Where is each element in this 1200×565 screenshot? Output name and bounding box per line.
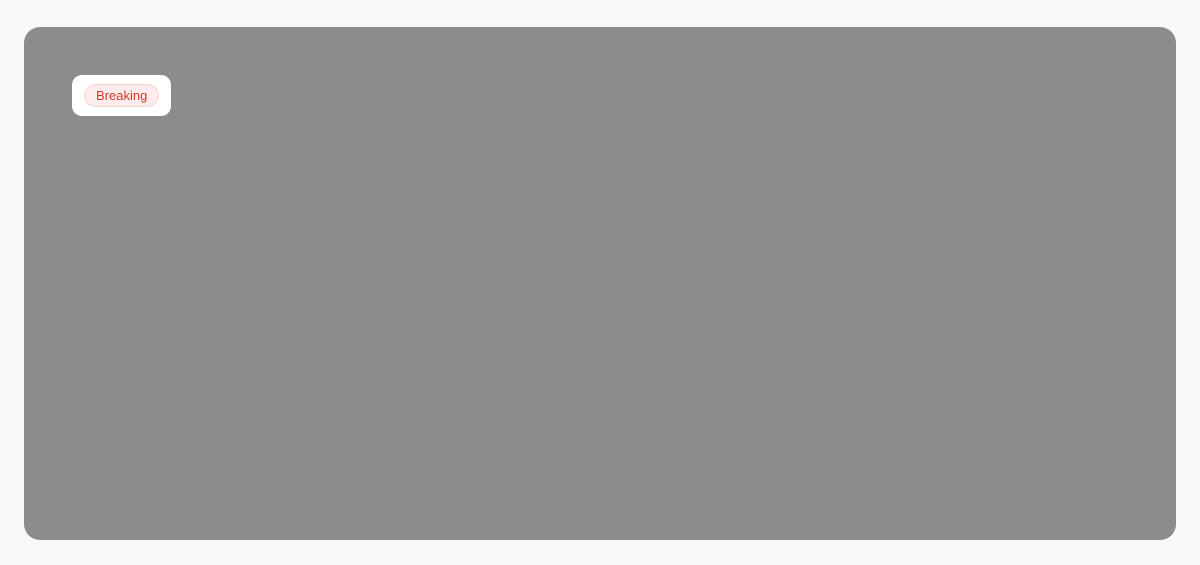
changes-count-badge: 6 <box>418 113 439 134</box>
change-tree: Response200 responseModified <box>348 396 1160 460</box>
entry-date: Aug 9, 2023 <box>51 51 250 73</box>
change-tag-modified: Modified <box>509 232 556 252</box>
changes-panel-header: Modified 6 <box>332 100 1176 148</box>
change-node[interactable]: 200 responseModified <box>416 225 1160 257</box>
change-tag-modified: Modified <box>554 264 601 284</box>
endpoint-group: GET /v2/ibansResponse200 responseModifie… <box>348 164 1160 353</box>
status-badge-breaking[interactable]: Breaking <box>84 84 159 107</box>
changelog-entry-card: Aug 9, 2023 2.0 Breaking Compare API str… <box>24 27 1176 540</box>
tree-branch-level-2: 200 responseModifiedresults attributeMod… <box>399 225 1160 289</box>
change-node[interactable]: 200 responseModified <box>416 428 1160 460</box>
change-node[interactable]: include_deleted query parameterAdded <box>416 321 1160 353</box>
change-tag-added: Added <box>629 328 665 348</box>
tree-branch-level-1: Response200 responseModified <box>365 396 1160 460</box>
compare-button[interactable]: Compare <box>51 125 139 155</box>
entry-content-column: API structure has changed Modified 6 GET… <box>250 27 1176 540</box>
tree-branch-level-1: Response200 responseModifiedresults attr… <box>365 193 1160 353</box>
changes-panel-body: GET /v2/ibansResponse200 responseModifie… <box>332 148 1176 540</box>
page-root: Aug 9, 2023 2.0 Breaking Compare API str… <box>0 0 1200 565</box>
change-tag-modified: Modified <box>509 435 556 455</box>
change-section-heading[interactable]: Response <box>382 396 1160 428</box>
tree-branch-level-2: include_deleted query parameterAdded <box>399 321 1160 353</box>
change-node-label: results attribute <box>450 257 546 289</box>
entry-version-label: 2.0 <box>51 85 70 107</box>
change-node-label: 200 response <box>416 428 501 460</box>
endpoint-chip[interactable]: GET /v2/ibans <box>348 164 451 187</box>
show-more-button[interactable]: Show More <box>702 525 806 540</box>
page-title: API structure has changed <box>331 52 1176 80</box>
change-node[interactable]: results attributeModified <box>450 257 1160 289</box>
change-node-label: 200 response <box>416 225 501 257</box>
tree-branch-level-3: results attributeModified <box>433 257 1160 289</box>
changelog-entry: Aug 9, 2023 2.0 Breaking Compare API str… <box>24 27 1176 540</box>
changes-panel: Modified 6 GET /v2/ibansResponse200 resp… <box>331 99 1176 540</box>
change-section-heading[interactable]: Query <box>382 289 1160 321</box>
change-tree: Response200 responseModifiedresults attr… <box>348 193 1160 353</box>
change-node-label: include_deleted query parameter <box>416 321 621 353</box>
tree-branch-level-2: 200 responseModified <box>399 428 1160 460</box>
changes-panel-title: Modified <box>348 113 408 135</box>
show-more-container: Show More <box>332 525 1176 540</box>
breaking-badge-spotlight: Breaking <box>72 75 171 116</box>
change-section-heading[interactable]: Response <box>382 193 1160 225</box>
endpoint-group: GET /v2/ibans/{id}Response200 responseMo… <box>348 367 1160 460</box>
endpoint-chip[interactable]: GET /v2/ibans/{id} <box>348 367 475 390</box>
